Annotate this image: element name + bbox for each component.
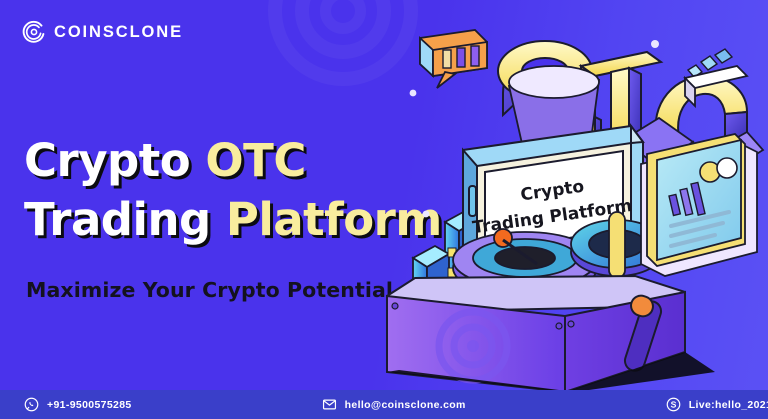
dot-decoration — [651, 40, 659, 48]
brand-name: COINSCLONE — [54, 23, 183, 42]
ring-inner — [320, 0, 366, 34]
dot-decoration — [410, 90, 417, 97]
whatsapp-number: +91-9500575285 — [47, 399, 132, 411]
whatsapp-icon — [24, 397, 39, 412]
contact-footer-bar: +91-9500575285 hello@coinsclone.com Live… — [0, 390, 768, 419]
headline-line-1: Crypto OTC — [24, 132, 444, 191]
hero-illustration: Crypto Trading Platform — [385, 0, 768, 392]
yellow-pill — [609, 212, 625, 278]
email-icon — [322, 397, 337, 412]
contact-skype[interactable]: Live:hello_20214 — [666, 397, 768, 412]
headline-word-otc: OTC — [205, 134, 305, 187]
analytics-card — [641, 134, 757, 276]
hero-headline: Crypto OTC Trading Platform — [24, 132, 444, 249]
chat-bubble-icon — [420, 30, 487, 88]
contact-whatsapp[interactable]: +91-9500575285 — [24, 397, 132, 412]
ring-middle — [295, 0, 391, 59]
skype-id: Live:hello_20214 — [689, 399, 768, 411]
headline-word-crypto: Crypto — [24, 134, 190, 187]
coinsclone-circle-icon — [22, 20, 46, 44]
headline-word-trading: Trading — [24, 193, 211, 246]
contact-email[interactable]: hello@coinsclone.com — [322, 397, 466, 412]
hero-subheadline: Maximize Your Crypto Potential — [26, 278, 393, 302]
promo-banner: COINSCLONE Crypto OTC Trading Platform M… — [0, 0, 768, 419]
dot-decoration — [423, 211, 430, 218]
headline-line-2: Trading Platform — [24, 191, 444, 250]
email-address: hello@coinsclone.com — [345, 399, 466, 411]
brand-logo[interactable]: COINSCLONE — [22, 20, 183, 44]
skype-icon — [666, 397, 681, 412]
